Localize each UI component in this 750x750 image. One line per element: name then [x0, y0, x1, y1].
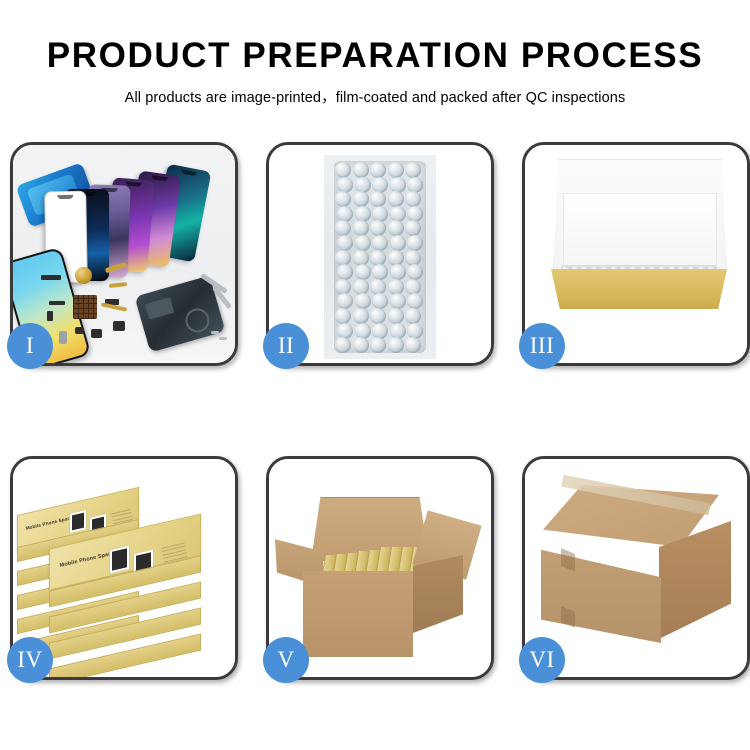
bubble	[370, 191, 386, 207]
part-camera-module	[113, 321, 125, 331]
part-connector-3	[47, 311, 53, 321]
bubble	[390, 235, 406, 251]
bubble	[388, 308, 404, 324]
page-subtitle: All products are image-printed，film-coat…	[0, 91, 750, 106]
bubble	[337, 264, 353, 280]
bubble	[355, 177, 371, 193]
bubble	[353, 337, 369, 353]
bubble	[407, 177, 423, 193]
product-preparation-infographic: PRODUCT PREPARATION PROCESS All products…	[0, 0, 750, 750]
bubble	[390, 177, 406, 193]
bubble	[372, 264, 388, 280]
bubble	[355, 206, 371, 222]
step-panel-4[interactable]: Mobile Phone Spare Parts Mobile Phone S	[10, 456, 238, 680]
bubble	[372, 177, 388, 193]
bubble	[407, 323, 423, 339]
bubble	[353, 162, 369, 178]
bubble	[335, 337, 351, 353]
step-panel-5[interactable]: V	[266, 456, 494, 680]
bubble	[353, 279, 369, 295]
bubble	[370, 308, 386, 324]
step-panel-1[interactable]: I	[10, 142, 238, 366]
bubble	[388, 279, 404, 295]
step-badge-6: VI	[519, 637, 565, 683]
bubble-wrapped-product	[334, 161, 426, 353]
bubble	[355, 264, 371, 280]
bubble	[405, 279, 421, 295]
part-button-1	[75, 327, 84, 334]
header: PRODUCT PREPARATION PROCESS All products…	[0, 0, 750, 106]
bubble	[353, 191, 369, 207]
bubble	[407, 293, 423, 309]
step-panel-2[interactable]: II	[266, 142, 494, 366]
sealed-carton-front-face	[541, 537, 661, 643]
bubble	[388, 162, 404, 178]
bubble	[337, 206, 353, 222]
bubble	[388, 250, 404, 266]
kraft-box-tray	[551, 269, 727, 309]
step-badge-2: II	[263, 323, 309, 369]
bubble	[405, 191, 421, 207]
screw-2	[219, 337, 227, 340]
bubble	[372, 235, 388, 251]
bubble	[337, 177, 353, 193]
bubble	[337, 293, 353, 309]
bubble	[407, 206, 423, 222]
bubble-grid	[334, 161, 426, 353]
bubble	[372, 323, 388, 339]
bubble	[388, 220, 404, 236]
step-badge-5: V	[263, 637, 309, 683]
bubble	[335, 220, 351, 236]
bubble	[370, 220, 386, 236]
bubble	[405, 162, 421, 178]
part-connector-1	[41, 275, 61, 280]
bubble	[335, 279, 351, 295]
flex-cable-3	[109, 282, 127, 288]
bubble	[353, 308, 369, 324]
screw-1	[211, 331, 219, 334]
bubble	[335, 191, 351, 207]
bubble	[388, 191, 404, 207]
box-screen-art-l1	[69, 509, 87, 534]
bubble	[372, 206, 388, 222]
bubble	[355, 235, 371, 251]
step-badge-1: I	[7, 323, 53, 369]
step-badge-3: III	[519, 323, 565, 369]
carton-front-face	[303, 571, 413, 657]
bubble	[390, 323, 406, 339]
bubble	[355, 323, 371, 339]
step-panel-6[interactable]: VI	[522, 456, 750, 680]
step-panel-3[interactable]: III	[522, 142, 750, 366]
part-sim-tray	[59, 331, 67, 344]
bubble	[405, 337, 421, 353]
bubble	[370, 279, 386, 295]
bubble	[335, 162, 351, 178]
bubble	[390, 264, 406, 280]
bubble	[388, 337, 404, 353]
bubble	[390, 293, 406, 309]
step-badge-4: IV	[7, 637, 53, 683]
bubble	[355, 293, 371, 309]
bubble	[407, 235, 423, 251]
bubble	[353, 220, 369, 236]
bubble	[405, 220, 421, 236]
bubble	[405, 250, 421, 266]
chip-grid-part	[73, 295, 97, 319]
bubble	[390, 206, 406, 222]
bubble	[370, 250, 386, 266]
bubble	[407, 264, 423, 280]
bubble	[370, 337, 386, 353]
bubble	[335, 308, 351, 324]
bubble	[335, 250, 351, 266]
bubble	[370, 162, 386, 178]
bubble	[353, 250, 369, 266]
part-button-2	[91, 329, 102, 338]
bubble	[405, 308, 421, 324]
part-connector-2	[49, 301, 65, 305]
speaker-coil-part	[75, 267, 92, 284]
bubble	[337, 235, 353, 251]
bubble	[337, 323, 353, 339]
steps-grid: I II III	[10, 142, 740, 680]
bubble	[372, 293, 388, 309]
phone-back-housing	[135, 275, 226, 352]
carton-side-face	[413, 555, 463, 633]
box-lid-inner-panel	[563, 193, 717, 273]
page-title: PRODUCT PREPARATION PROCESS	[0, 38, 750, 73]
box-screen-art-r1	[109, 545, 130, 575]
